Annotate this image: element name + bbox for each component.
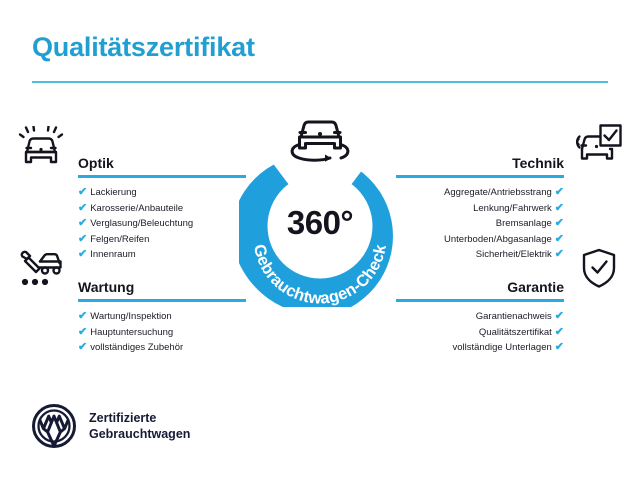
list-item: ✔Felgen/Reifen (78, 232, 246, 248)
list-item-label: Felgen/Reifen (90, 234, 149, 245)
section-title: Technik (512, 155, 564, 171)
section-optik: Optik ✔Lackierung ✔Karosserie/Anbauteile… (78, 148, 246, 263)
shield-check-icon (576, 248, 622, 290)
list-item-label: vollständige Unterlagen (452, 342, 551, 353)
check-icon: ✔ (78, 216, 87, 232)
list-item: ✔Karosserie/Anbauteile (78, 201, 246, 217)
title-divider (32, 81, 608, 83)
list-item: Unterboden/Abgasanlage✔ (396, 232, 564, 248)
list-item: ✔Verglasung/Beleuchtung (78, 216, 246, 232)
check-icon: ✔ (78, 309, 87, 325)
check-icon: ✔ (555, 232, 564, 248)
list-item: ✔Hauptuntersuchung (78, 325, 246, 341)
wrench-car-icon (18, 250, 64, 292)
check-list: ✔Lackierung ✔Karosserie/Anbauteile ✔Verg… (78, 185, 246, 263)
list-item: Qualitätszertifikat✔ (396, 325, 564, 341)
section-header: Garantie (396, 272, 564, 298)
car-checkbox-icon (576, 124, 622, 166)
list-item: ✔Lackierung (78, 185, 246, 201)
list-item-label: Wartung/Inspektion (90, 311, 172, 322)
list-item: vollständige Unterlagen✔ (396, 340, 564, 356)
list-item-label: Lenkung/Fahrwerk (473, 203, 552, 214)
list-item: ✔vollständiges Zubehör (78, 340, 246, 356)
check-icon: ✔ (555, 201, 564, 217)
section-divider (396, 299, 564, 302)
check-icon: ✔ (555, 325, 564, 341)
list-item-label: Bremsanlage (496, 218, 552, 229)
page-title: Qualitätszertifikat (32, 32, 255, 63)
list-item-label: Qualitätszertifikat (479, 327, 552, 338)
certificate-page: Qualitätszertifikat Optik ✔Lackierung ✔K… (0, 0, 640, 480)
section-technik: Technik Aggregate/Antriebsstrang✔ Lenkun… (396, 148, 564, 263)
list-item-label: Sicherheit/Elektrik (476, 249, 552, 260)
volkswagen-logo (32, 404, 76, 448)
section-divider (78, 175, 246, 178)
footer-brand: Zertifizierte Gebrauchtwagen (32, 404, 190, 448)
check-icon: ✔ (78, 325, 87, 341)
list-item: Sicherheit/Elektrik✔ (396, 247, 564, 263)
badge-360-check: Gebrauchtwagen-Check 360° (239, 145, 401, 307)
list-item: Bremsanlage✔ (396, 216, 564, 232)
check-icon: ✔ (78, 185, 87, 201)
section-divider (78, 299, 246, 302)
list-item: Aggregate/Antriebsstrang✔ (396, 185, 564, 201)
section-garantie: Garantie Garantienachweis✔ Qualitätszert… (396, 272, 564, 356)
section-title: Garantie (507, 279, 564, 295)
check-icon: ✔ (78, 340, 87, 356)
check-icon: ✔ (555, 247, 564, 263)
check-icon: ✔ (555, 340, 564, 356)
section-divider (396, 175, 564, 178)
section-header: Wartung (78, 272, 246, 298)
section-title: Optik (78, 155, 114, 171)
section-wartung: Wartung ✔Wartung/Inspektion ✔Hauptunters… (78, 272, 246, 356)
list-item: ✔Innenraum (78, 247, 246, 263)
list-item: Garantienachweis✔ (396, 309, 564, 325)
check-list: ✔Wartung/Inspektion ✔Hauptuntersuchung ✔… (78, 309, 246, 356)
check-icon: ✔ (78, 247, 87, 263)
check-icon: ✔ (78, 232, 87, 248)
check-icon: ✔ (555, 185, 564, 201)
list-item: Lenkung/Fahrwerk✔ (396, 201, 564, 217)
list-item-label: Hauptuntersuchung (90, 327, 173, 338)
list-item-label: Aggregate/Antriebsstrang (444, 187, 552, 198)
list-item-label: vollständiges Zubehör (90, 342, 183, 353)
check-icon: ✔ (555, 309, 564, 325)
footer-label: Zertifizierte Gebrauchtwagen (89, 410, 190, 442)
car-shine-icon (18, 126, 64, 168)
list-item-label: Lackierung (90, 187, 136, 198)
badge-degrees: 360° (239, 145, 401, 307)
list-item-label: Innenraum (90, 249, 135, 260)
list-item-label: Unterboden/Abgasanlage (444, 234, 552, 245)
list-item-label: Verglasung/Beleuchtung (90, 218, 193, 229)
section-title: Wartung (78, 279, 134, 295)
list-item: ✔Wartung/Inspektion (78, 309, 246, 325)
list-item-label: Karosserie/Anbauteile (90, 203, 183, 214)
check-list: Aggregate/Antriebsstrang✔ Lenkung/Fahrwe… (396, 185, 564, 263)
section-header: Optik (78, 148, 246, 174)
check-list: Garantienachweis✔ Qualitätszertifikat✔ v… (396, 309, 564, 356)
list-item-label: Garantienachweis (476, 311, 552, 322)
check-icon: ✔ (78, 201, 87, 217)
section-header: Technik (396, 148, 564, 174)
check-icon: ✔ (555, 216, 564, 232)
